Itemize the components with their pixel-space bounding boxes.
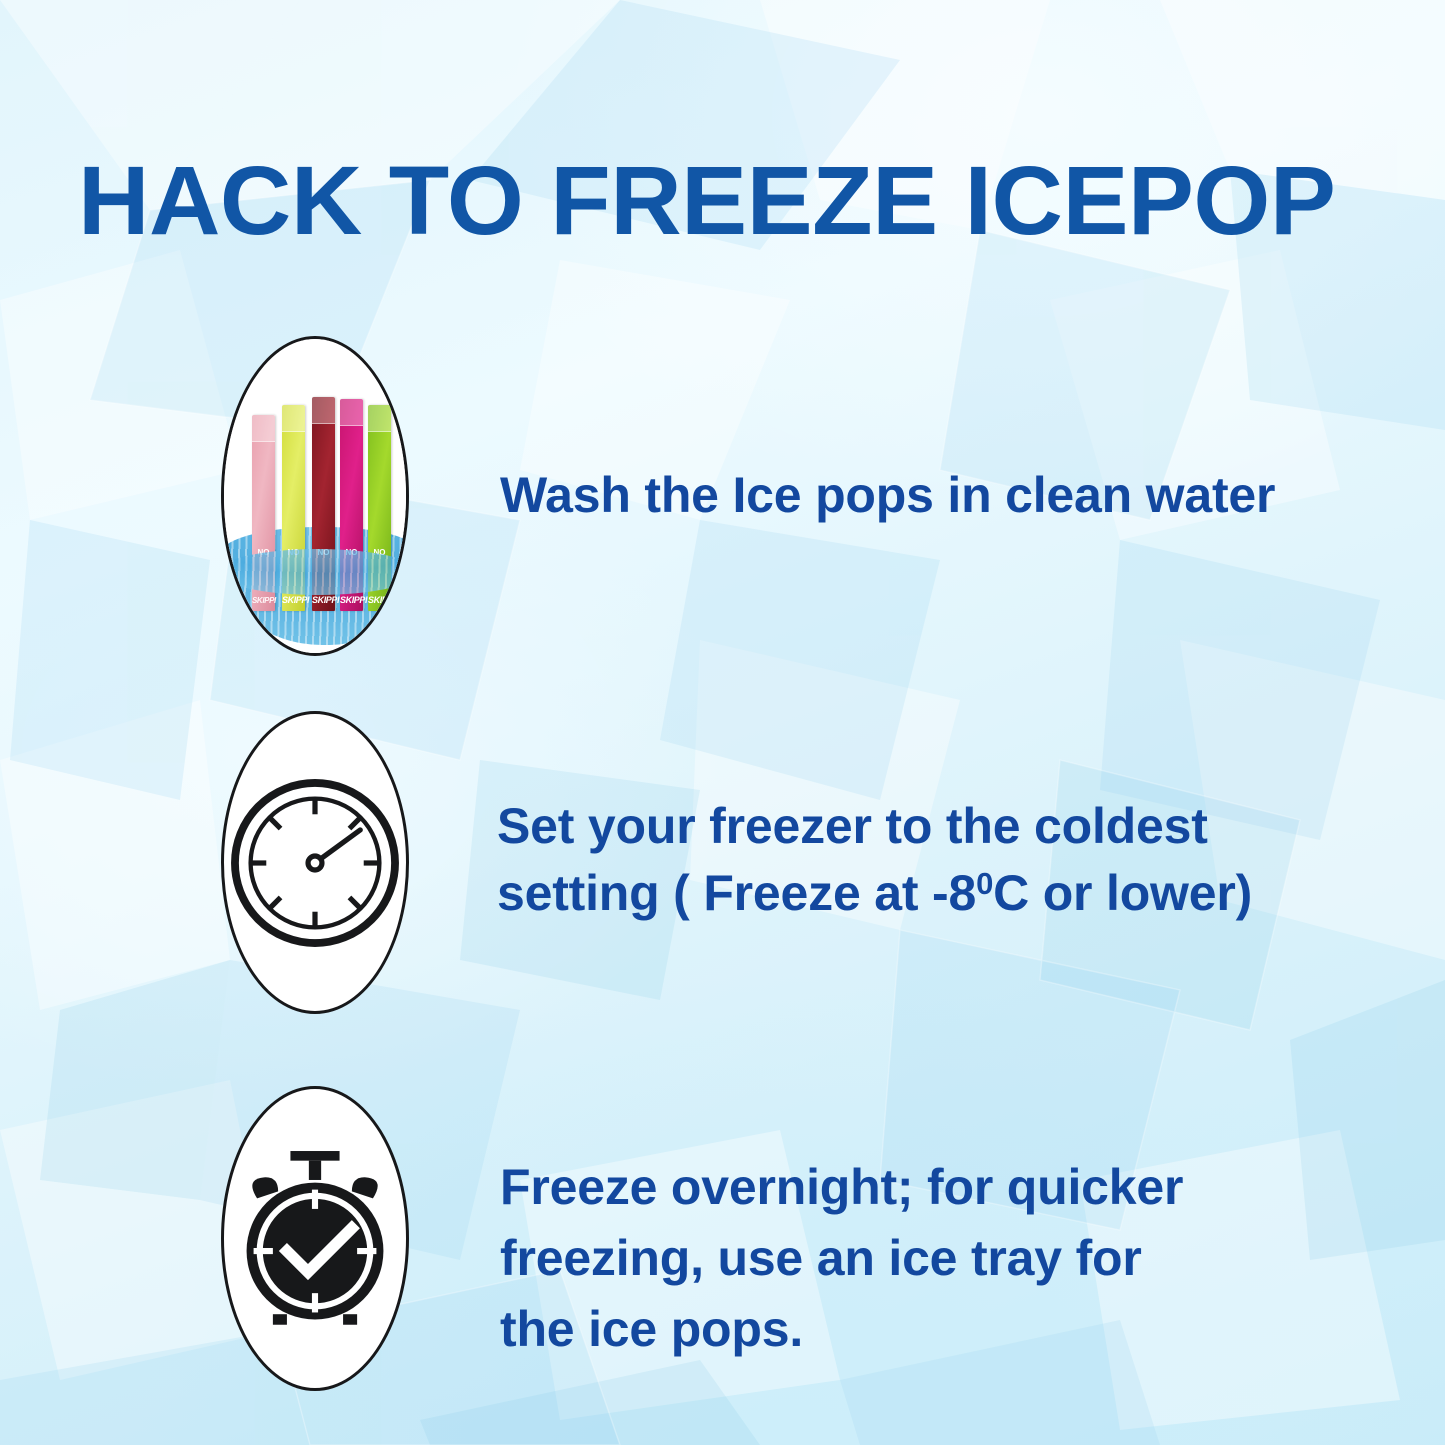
pop-cap [340,399,363,426]
step-2-text: Set your freezer to the coldest setting … [497,793,1397,927]
alarm-clock-check-icon [227,1144,403,1330]
step-3-line-3: the ice pops. [500,1294,1340,1365]
pop-brand-label: SKIPPI [368,595,391,605]
step-3-line-2: freezing, use an ice tray for [500,1223,1340,1294]
temperature-gauge-icon [228,776,402,950]
gauge-hub [308,856,322,870]
degree-symbol: 0 [976,866,993,901]
step-3-text: Freeze overnight; for quicker freezing, … [500,1152,1340,1365]
step-2-line-2-before: setting ( Freeze at -8 [497,865,976,921]
step-1-text: Wash the Ice pops in clean water [500,462,1430,529]
timer-bell-left [252,1177,278,1198]
temperature-gauge-icon-frame [221,711,409,1014]
pop-brand-label: SKIPPI [252,596,275,605]
timer-stem [309,1160,321,1179]
pop-brand-label: SKIPPI [312,595,335,605]
ice-pops-photo-icon: NO SKIPPI NO SKIPPI NO SKIPPI NO SKIPPI … [221,336,409,656]
timer-bell-right [352,1177,378,1198]
pop-cap [282,405,305,432]
alarm-clock-check-icon-frame [221,1086,409,1391]
step-2-line-2-after: C or lower) [993,865,1252,921]
pop-cap [312,397,335,424]
step-2-line-1: Set your freezer to the coldest [497,798,1208,854]
pop-cap [368,405,391,432]
timer-foot-right [343,1314,357,1325]
step-3-line-1: Freeze overnight; for quicker [500,1152,1340,1223]
pop-brand-label: SKIPPI [340,595,363,605]
timer-foot-left [273,1314,287,1325]
pop-brand-label: SKIPPI [282,595,305,605]
infographic-poster: HACK TO FREEZE ICEPOP NO SKIPPI NO SKIPP… [0,0,1445,1445]
water-brushstroke-front [221,549,409,595]
pop-cap [252,415,275,442]
timer-top-bar [290,1151,339,1161]
page-title: HACK TO FREEZE ICEPOP [78,152,1404,249]
ice-pops-photograph: NO SKIPPI NO SKIPPI NO SKIPPI NO SKIPPI … [224,339,406,653]
